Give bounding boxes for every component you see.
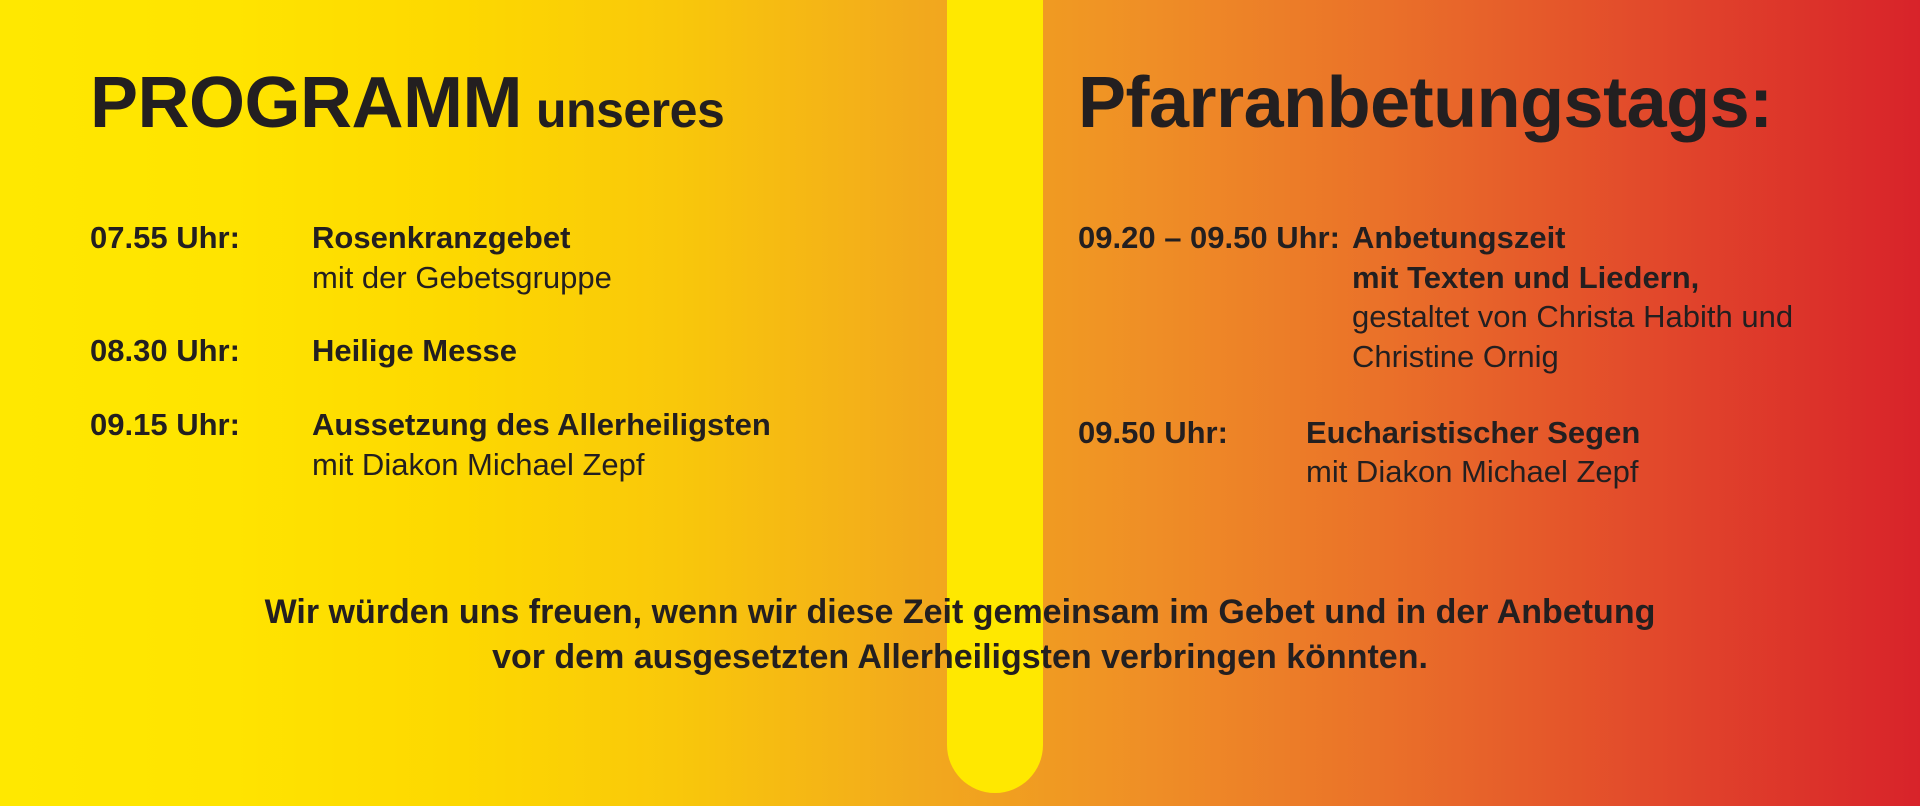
entry-subtitle: mit Diakon Michael Zepf [312, 445, 950, 485]
page-title-left: PROGRAMMunseres [90, 62, 724, 144]
schedule-entry: 09.15 Uhr: Aussetzung des Allerheiligste… [90, 405, 950, 484]
entry-title: Heilige Messe [312, 331, 950, 371]
entry-title: Anbetungszeit [1352, 218, 1918, 258]
entry-description: Anbetungszeit mit Texten und Liedern, ge… [1352, 218, 1918, 377]
entry-time: 09.50 Uhr: [1078, 413, 1306, 453]
entry-title-line2: mit Texten und Liedern, [1352, 258, 1918, 298]
entry-title: Eucharistischer Segen [1306, 413, 1918, 453]
entry-title: Rosenkranzgebet [312, 218, 950, 258]
entry-description: Heilige Messe [312, 331, 950, 371]
schedule-entry: 08.30 Uhr: Heilige Messe [90, 331, 950, 371]
page-title-right: Pfarranbetungstags: [1078, 62, 1773, 144]
schedule-entry: 09.50 Uhr: Eucharistischer Segen mit Dia… [1078, 413, 1918, 492]
entry-time: 08.30 Uhr: [90, 331, 312, 371]
page-title-left-sub: unseres [536, 82, 724, 138]
entry-subtitle-line2: Christine Ornig [1352, 337, 1918, 377]
poster-content: PROGRAMMunseres Pfarranbetungstags: 07.5… [0, 0, 1920, 806]
entry-description: Eucharistischer Segen mit Diakon Michael… [1306, 413, 1918, 492]
closing-message: Wir würden uns freuen, wenn wir diese Ze… [0, 590, 1920, 680]
entry-time: 09.15 Uhr: [90, 405, 312, 445]
schedule-entry: 09.20 – 09.50 Uhr: Anbetungszeit mit Tex… [1078, 218, 1918, 377]
entry-subtitle: mit der Gebetsgruppe [312, 258, 950, 298]
entry-subtitle: gestaltet von Christa Habith und [1352, 297, 1918, 337]
schedule-entry: 07.55 Uhr: Rosenkranzgebet mit der Gebet… [90, 218, 950, 297]
entry-title: Aussetzung des Allerheiligsten [312, 405, 950, 445]
entry-description: Rosenkranzgebet mit der Gebetsgruppe [312, 218, 950, 297]
entry-time: 09.20 – 09.50 Uhr: [1078, 218, 1340, 258]
entry-time: 07.55 Uhr: [90, 218, 312, 258]
page-title-right-main: Pfarranbetungstags: [1078, 63, 1773, 143]
poster-canvas: PROGRAMMunseres Pfarranbetungstags: 07.5… [0, 0, 1920, 806]
entry-description: Aussetzung des Allerheiligsten mit Diako… [312, 405, 950, 484]
schedule-list-left: 07.55 Uhr: Rosenkranzgebet mit der Gebet… [90, 218, 950, 518]
closing-message-line-1: Wir würden uns freuen, wenn wir diese Ze… [84, 590, 1836, 635]
schedule-list-right: 09.20 – 09.50 Uhr: Anbetungszeit mit Tex… [1078, 218, 1918, 528]
closing-message-line-2: vor dem ausgesetzten Allerheiligsten ver… [84, 635, 1836, 680]
entry-subtitle: mit Diakon Michael Zepf [1306, 452, 1918, 492]
page-title-left-main: PROGRAMM [90, 63, 522, 143]
